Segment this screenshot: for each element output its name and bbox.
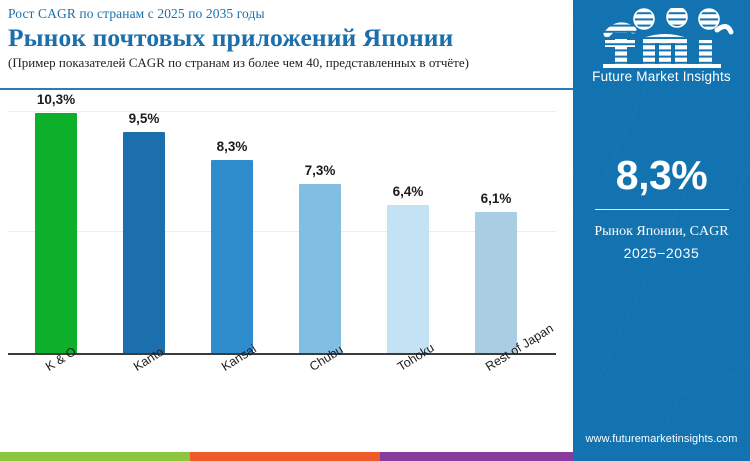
color-segment-green (0, 452, 190, 461)
header: Рост CAGR по странам с 2025 по 2035 годы… (8, 6, 564, 71)
bar-kanto[interactable]: 9,5% (123, 132, 165, 355)
plot-area: 10,3%9,5%8,3%7,3%6,4%6,1% (8, 90, 556, 355)
bar-rect[interactable] (35, 113, 77, 355)
bar-rest-of-japan[interactable]: 6,1% (475, 212, 517, 355)
infographic-page: Рост CAGR по странам с 2025 по 2035 годы… (0, 0, 750, 461)
fmi-logo[interactable]: Future Market Insights (573, 8, 750, 84)
page-title: Рынок почтовых приложений Японии (8, 24, 564, 53)
headline-stat: 8,3% Рынок Японии, CAGR 2025−2035 (573, 155, 750, 261)
fmi-logo-icon (589, 8, 735, 68)
color-segment-purple (380, 452, 573, 461)
x-axis-line (8, 353, 556, 355)
stat-caption-line1: Рынок Японии, CAGR (573, 221, 750, 243)
subtitle-note: (Пример показателей CAGR по странам из б… (8, 55, 564, 71)
gridline (8, 231, 556, 232)
chart-panel: Рост CAGR по странам с 2025 по 2035 годы… (0, 0, 573, 461)
bar-value-label: 7,3% (305, 163, 336, 178)
bar-k-o[interactable]: 10,3% (35, 113, 77, 355)
stat-value: 8,3% (573, 155, 750, 196)
bar-rect[interactable] (123, 132, 165, 355)
bar-rect[interactable] (299, 184, 341, 355)
bar-kansai[interactable]: 8,3% (211, 160, 253, 355)
gridline (8, 111, 556, 112)
fmi-logo-tagline: Future Market Insights (573, 69, 750, 84)
bar-chart: 10,3%9,5%8,3%7,3%6,4%6,1% K & OKantoKans… (0, 90, 573, 440)
bar-tohoku[interactable]: 6,4% (387, 205, 429, 355)
bar-value-label: 6,1% (481, 191, 512, 206)
bar-chubu[interactable]: 7,3% (299, 184, 341, 355)
stat-divider (595, 209, 729, 210)
bar-value-label: 8,3% (217, 139, 248, 154)
bottom-color-bar (0, 452, 573, 461)
bar-value-label: 9,5% (129, 111, 160, 126)
brand-sidebar: Future Market Insights 8,3% Рынок Японии… (573, 0, 750, 461)
bar-value-label: 10,3% (37, 92, 75, 107)
eyebrow-text: Рост CAGR по странам с 2025 по 2035 годы (8, 6, 564, 22)
bar-value-label: 6,4% (393, 184, 424, 199)
bar-rect[interactable] (475, 212, 517, 355)
site-url[interactable]: www.futuremarketinsights.com (573, 433, 750, 445)
bar-rect[interactable] (387, 205, 429, 355)
stat-caption-line2: 2025−2035 (573, 245, 750, 261)
color-segment-orange (190, 452, 380, 461)
bar-rect[interactable] (211, 160, 253, 355)
